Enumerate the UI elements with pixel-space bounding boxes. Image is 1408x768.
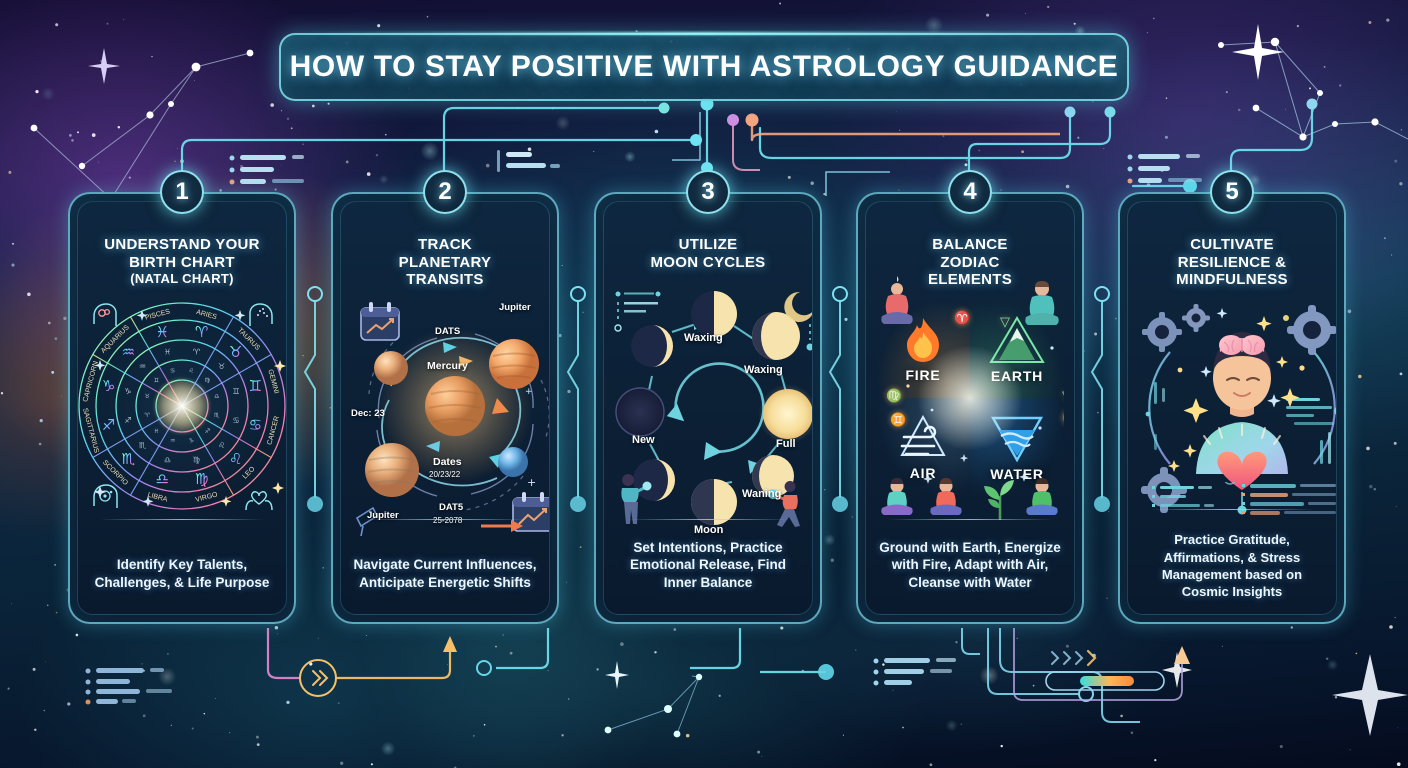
svg-text:♏: ♏ xyxy=(139,441,147,450)
zodiac-symbol-aries: ♈ xyxy=(954,310,970,326)
sparkle-star-violet xyxy=(86,46,122,86)
svg-text:+: + xyxy=(527,476,536,489)
hud-list-top-left xyxy=(230,155,305,185)
orbit-label-jupiter-top: Jupiter xyxy=(499,302,531,313)
arrow-up-amber-right xyxy=(1174,646,1190,664)
svg-text:♌: ♌ xyxy=(218,441,225,450)
crescent-decor xyxy=(784,292,813,322)
sparkle-star-tiny xyxy=(604,660,630,690)
svg-text:♎: ♎ xyxy=(164,456,171,465)
card-1-footer: Identify Key Talents, Challenges, & Life… xyxy=(88,556,276,592)
svg-text:♏: ♏ xyxy=(214,412,220,419)
svg-text:♐: ♐ xyxy=(205,428,210,435)
svg-text:♉: ♉ xyxy=(229,343,242,361)
card-5[interactable]: 5 CULTIVATE RESILIENCE & MINDFULNESS xyxy=(1118,192,1346,624)
progress-bar-fill xyxy=(1080,676,1134,686)
moon-label-new: New xyxy=(632,434,655,446)
svg-text:♉: ♉ xyxy=(218,362,225,371)
card-5-artwork xyxy=(1134,294,1330,502)
card-4-number-badge: 4 xyxy=(948,170,992,214)
svg-text:♋: ♋ xyxy=(249,416,262,434)
svg-text:♑: ♑ xyxy=(189,437,194,444)
meditator-bottom-2-icon xyxy=(922,474,970,524)
svg-text:♎: ♎ xyxy=(156,470,169,488)
moon-label-waxing-1: Waxing xyxy=(684,332,723,344)
moon-label-waning: Waning xyxy=(742,488,781,500)
hud-list-bottom-left xyxy=(86,668,173,705)
card-5-footer: Practice Gratitude, Affirmations, & Stre… xyxy=(1138,531,1326,600)
main-title-bar: HOW TO STAY POSITIVE WITH ASTROLOGY GUID… xyxy=(279,33,1129,101)
card-2[interactable]: 2 TRACK PLANETARY TRANSITS xyxy=(331,192,559,624)
moon-full xyxy=(763,389,813,439)
element-fire-label: FIRE xyxy=(905,367,940,383)
card-4[interactable]: 4 BALANCE ZODIAC ELEMENTS FIRE xyxy=(856,192,1084,624)
card-3-footer: Set Intentions, Practice Emotional Relea… xyxy=(614,539,802,592)
head-sparkle-icon-right xyxy=(246,300,276,330)
card-3-artwork: Waxing Waxing Full Waning Moon New xyxy=(610,284,806,518)
svg-text:♓: ♓ xyxy=(156,323,169,341)
constellation-top-left-stars xyxy=(31,50,254,203)
hands-heart-icon xyxy=(242,480,276,512)
svg-text:♏: ♏ xyxy=(122,450,136,468)
zodiac-symbol-capricorn: ♑ xyxy=(1062,410,1064,426)
orbit-label-dats: DATS xyxy=(435,326,460,337)
card-3-title: UTILIZE MOON CYCLES xyxy=(616,236,800,271)
svg-text:♊: ♊ xyxy=(154,377,159,384)
svg-text:♓: ♓ xyxy=(154,428,159,435)
orbit-label-mercury: Mercury xyxy=(427,360,468,372)
arrow-up-amber-left xyxy=(443,636,457,652)
title-glow-line xyxy=(291,32,1117,35)
card-1-title-line1: UNDERSTAND YOUR xyxy=(104,236,260,253)
card-2-footer: Navigate Current Influences, Anticipate … xyxy=(351,556,539,592)
svg-text:♈: ♈ xyxy=(193,347,200,356)
zodiac-symbol-gemini: ♊ xyxy=(890,412,906,428)
sparkle-star-bright xyxy=(1230,22,1286,82)
moon-label-moon: Moon xyxy=(694,524,723,536)
sparkle-star-small xyxy=(1160,650,1194,690)
constellation-top-right xyxy=(1221,42,1408,139)
svg-text:♊: ♊ xyxy=(249,377,262,395)
hud-bars-left xyxy=(1154,382,1165,450)
card-2-artwork: + + Jupiter DATS Mercury Dec: 23 Dates 2… xyxy=(347,290,543,518)
meditator-bottom-1-icon xyxy=(874,474,920,524)
svg-text:♌: ♌ xyxy=(229,450,242,468)
gear-icon-top-left xyxy=(1142,312,1182,352)
planet-small-top-left xyxy=(374,351,408,385)
card-4-footer: Ground with Earth, Energize with Fire, A… xyxy=(876,539,1064,592)
svg-text:♈: ♈ xyxy=(195,323,208,341)
svg-text:♊: ♊ xyxy=(233,387,240,396)
head-gear-icon-left xyxy=(90,480,122,512)
constellation-bottom-right-stars xyxy=(605,674,703,738)
hud-bars-right xyxy=(1286,398,1337,464)
plant-sprout-icon xyxy=(978,474,1022,524)
zodiac-symbol-virgo: ♍ xyxy=(886,388,902,404)
svg-text:♌: ♌ xyxy=(189,368,194,375)
moon-first-quarter xyxy=(714,291,737,337)
planet-earth xyxy=(498,447,528,477)
svg-text:♋: ♋ xyxy=(170,368,175,375)
card-4-artwork: FIRE EARTH xyxy=(872,288,1068,518)
card-3-number-badge: 3 xyxy=(686,170,730,214)
svg-text:♎: ♎ xyxy=(214,393,219,400)
moon-new xyxy=(616,388,664,436)
card-4-divider xyxy=(888,519,1052,521)
card-1-divider xyxy=(100,519,264,521)
card-5-body: CULTIVATE RESILIENCE & MINDFULNESS xyxy=(1127,201,1337,615)
orbit-label-dat5-value: 25-2078 xyxy=(433,516,462,525)
card-4-title: BALANCE ZODIAC ELEMENTS xyxy=(878,236,1062,289)
svg-text:♐: ♐ xyxy=(102,416,115,434)
zodiac-symbol-earth-glyph: ▽ xyxy=(1000,314,1010,330)
card-5-title: CULTIVATE RESILIENCE & MINDFULNESS xyxy=(1140,236,1324,289)
element-earth-label: EARTH xyxy=(991,368,1043,384)
card-1-title-sub: (NATAL CHART) xyxy=(90,271,274,286)
planet-jupiter-top xyxy=(489,339,539,389)
constellation-top-right-stars xyxy=(1218,38,1379,141)
svg-text:♐: ♐ xyxy=(124,416,131,425)
meditator-bottom-3-icon xyxy=(1018,474,1066,524)
svg-text:♒: ♒ xyxy=(170,437,175,444)
card-1-number-badge: 1 xyxy=(160,170,204,214)
card-3-body: UTILIZE MOON CYCLES xyxy=(603,201,813,615)
infographic-canvas: 1 UNDERSTAND YOUR BIRTH CHART (NATAL CHA… xyxy=(0,0,1408,768)
gear-icon-top-right xyxy=(1287,305,1337,355)
svg-text:♑: ♑ xyxy=(124,387,131,396)
card-3[interactable]: 3 UTILIZE MOON CYCLES xyxy=(594,192,822,624)
moon-label-waxing-2: Waxing xyxy=(744,364,783,376)
orbit-label-dat5: DAT5 xyxy=(439,502,463,513)
svg-text:♍: ♍ xyxy=(205,377,210,384)
hud-moon-right xyxy=(807,324,814,351)
zodiac-symbol-earth-glyph-2: ▽ xyxy=(1062,388,1064,404)
card-2-divider xyxy=(363,519,527,521)
card-5-divider xyxy=(1150,509,1314,511)
svg-text:+: + xyxy=(525,387,533,397)
card-2-body: TRACK PLANETARY TRANSITS xyxy=(340,201,550,615)
head-brain-icon-left xyxy=(90,300,120,330)
svg-text:♋: ♋ xyxy=(233,416,240,425)
hud-list-top-right xyxy=(1128,154,1203,184)
card-5-number-badge: 5 xyxy=(1210,170,1254,214)
card-1-title-line2: BIRTH CHART xyxy=(129,254,235,271)
page-title: HOW TO STAY POSITIVE WITH ASTROLOGY GUID… xyxy=(290,50,1119,84)
card-1[interactable]: 1 UNDERSTAND YOUR BIRTH CHART (NATAL CHA… xyxy=(68,192,296,624)
svg-text:♒: ♒ xyxy=(122,343,135,361)
moon-cycle-diagram xyxy=(610,284,813,534)
moon-label-full: Full xyxy=(776,438,796,450)
svg-text:♑: ♑ xyxy=(102,377,115,395)
hud-list-top-mid xyxy=(497,150,560,172)
card-1-artwork: ARIESTAURUSGEMINICANCERLEOVIRGOLIBRASCOR… xyxy=(84,298,280,514)
card-4-body: BALANCE ZODIAC ELEMENTS FIRE xyxy=(865,201,1075,615)
card-3-divider xyxy=(626,519,790,521)
water-drop-icon xyxy=(988,412,1046,464)
calendar-chart-icon-top xyxy=(361,302,399,340)
constellation-top-left xyxy=(34,53,250,199)
sparkle-star-large xyxy=(1330,650,1408,740)
constellation-bottom-right xyxy=(608,676,699,734)
progress-bar-track xyxy=(1046,672,1164,690)
chevrons-decor xyxy=(1052,652,1082,664)
card-2-number-badge: 2 xyxy=(423,170,467,214)
card-1-title: UNDERSTAND YOUR BIRTH CHART (NATAL CHART… xyxy=(90,236,274,287)
svg-text:♍: ♍ xyxy=(193,456,200,465)
orbit-label-dates-value: 20/23/22 xyxy=(429,470,460,479)
card-1-body: UNDERSTAND YOUR BIRTH CHART (NATAL CHART… xyxy=(77,201,287,615)
gear-icon-top-small xyxy=(1182,304,1210,332)
orbit-label-dates: Dates xyxy=(433,456,462,468)
svg-text:♓: ♓ xyxy=(164,347,171,356)
chevron-badge-circle xyxy=(300,660,336,696)
badge-icon-small xyxy=(1224,482,1236,484)
card-2-title: TRACK PLANETARY TRANSITS xyxy=(353,236,537,289)
svg-text:♈: ♈ xyxy=(145,412,151,419)
svg-text:♒: ♒ xyxy=(139,362,146,371)
hud-data-rows xyxy=(1138,482,1337,524)
hud-list-bottom-mid xyxy=(874,658,957,686)
svg-text:♉: ♉ xyxy=(145,393,150,400)
svg-text:♍: ♍ xyxy=(195,470,208,488)
orbit-label-dec23: Dec: 23 xyxy=(351,408,385,419)
